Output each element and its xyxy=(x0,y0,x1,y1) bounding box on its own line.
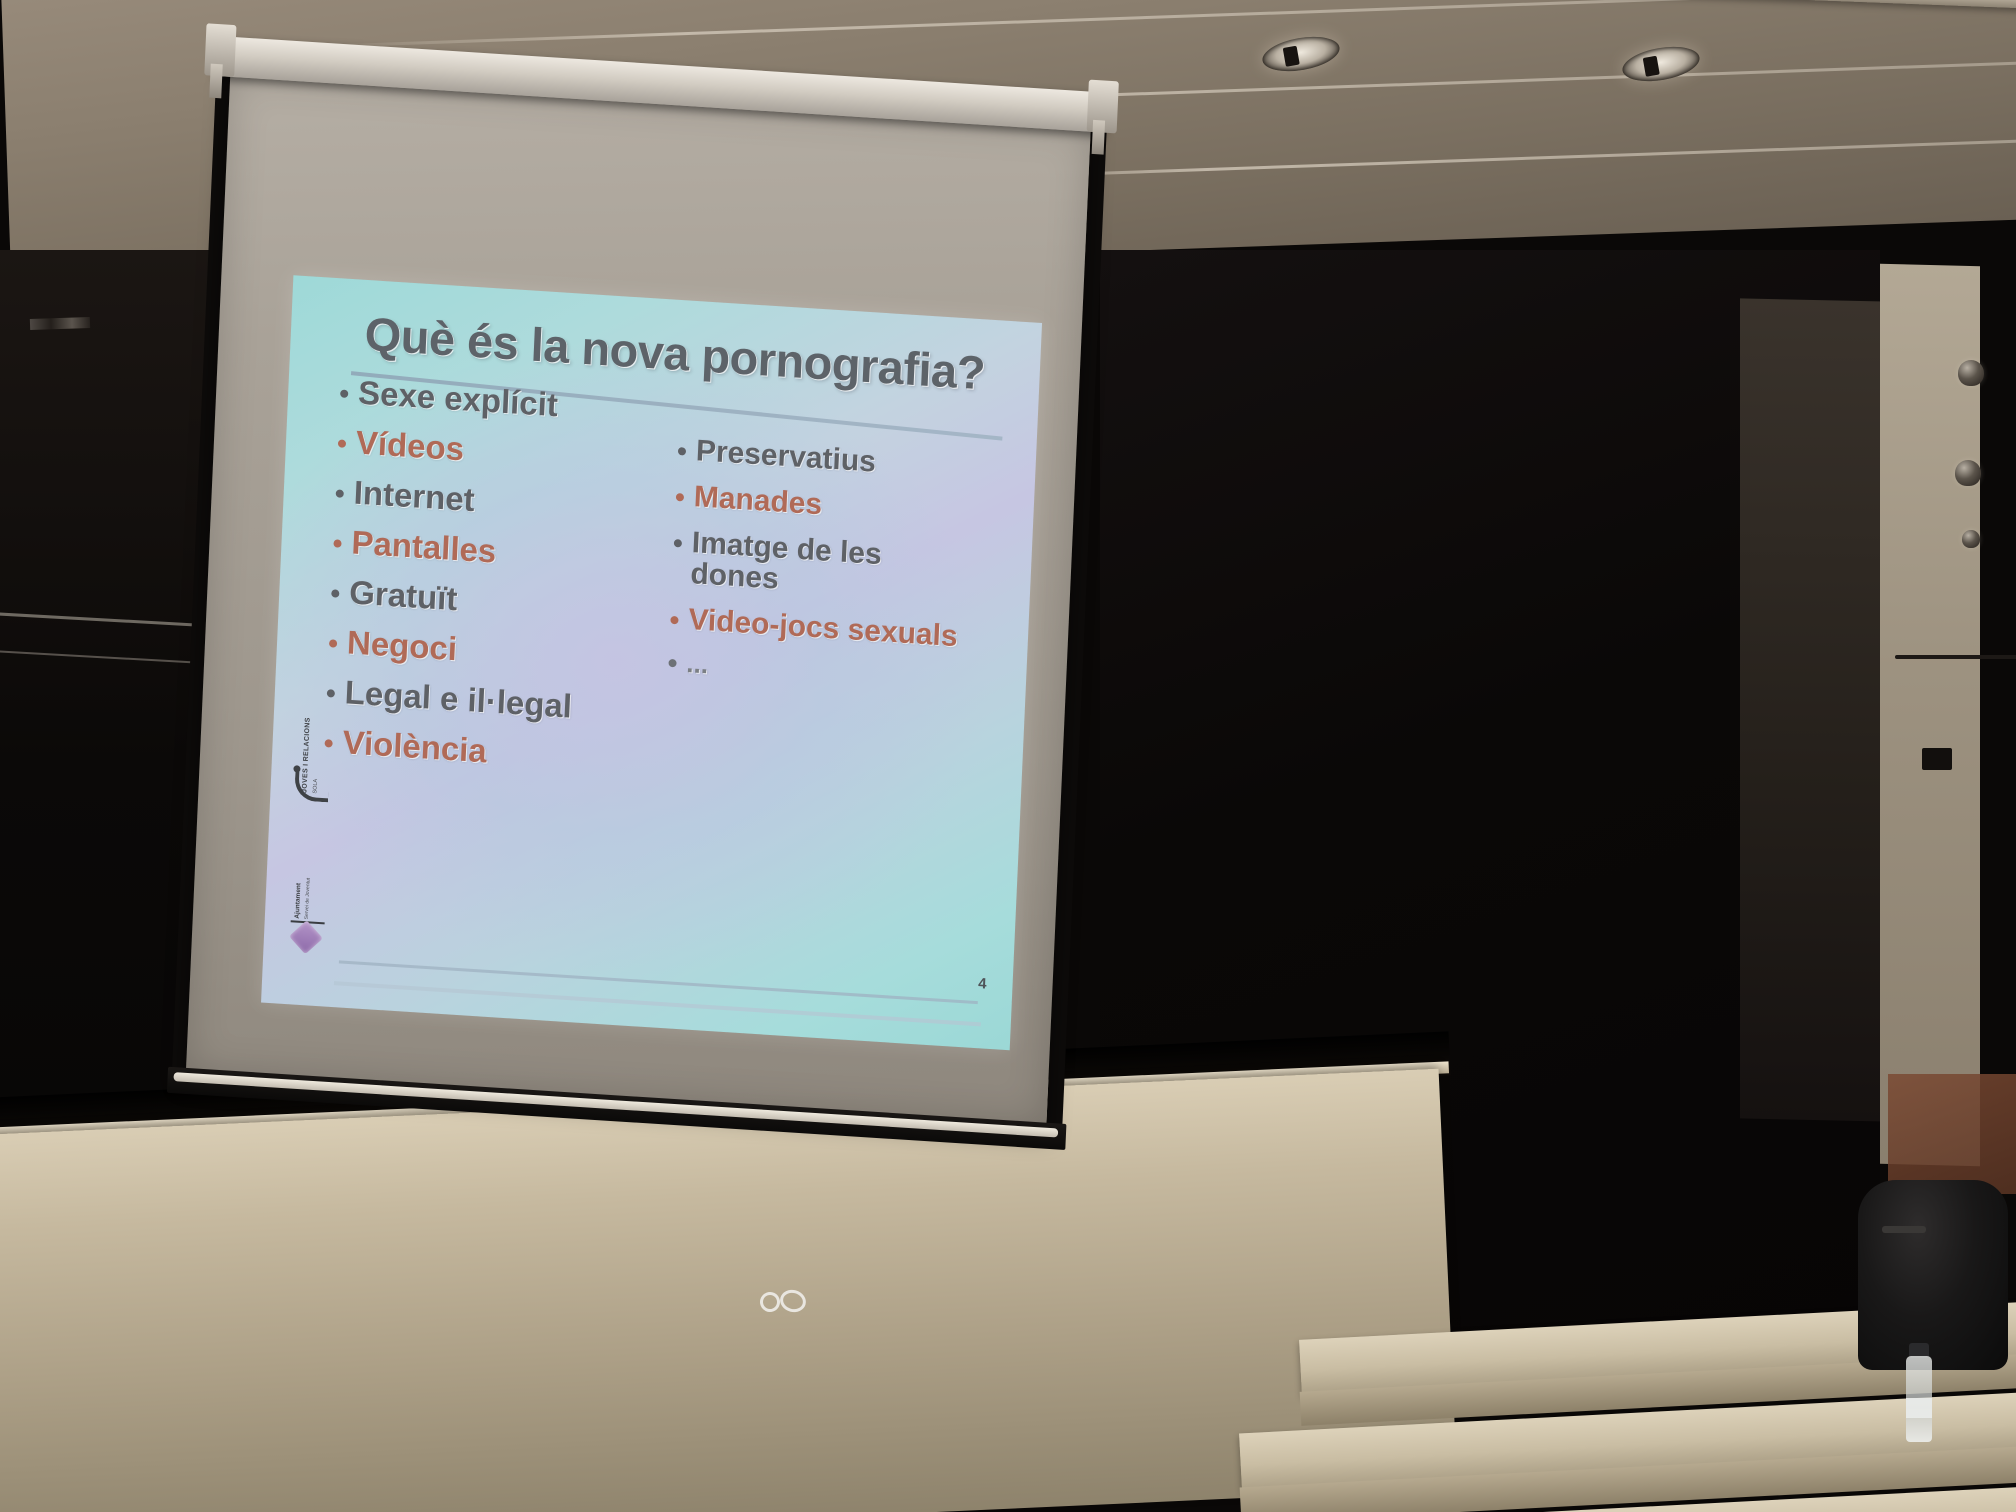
bullet-dot-icon xyxy=(327,689,335,698)
room-photo: Què és la nova pornografia? Sexe explíci… xyxy=(0,0,2016,1512)
wall-switch xyxy=(1922,748,1952,770)
list-item: Imatge de les dones xyxy=(672,526,974,609)
footer-rule-2 xyxy=(334,981,981,1026)
wall-plate xyxy=(1895,655,2016,659)
slide-page-number: 4 xyxy=(978,975,987,993)
cable xyxy=(760,1290,812,1316)
list-item: Negoci xyxy=(328,624,669,681)
jove-logo-line2: SOLA xyxy=(312,779,319,794)
wall-vent xyxy=(30,317,90,330)
list-item: Pantalles xyxy=(333,524,674,581)
bullet-dot-icon xyxy=(338,439,346,448)
list-item-label: Pantalles xyxy=(351,525,497,569)
list-item-label: Video-jocs sexuals xyxy=(688,604,958,653)
list-item: Preservatius xyxy=(677,434,978,485)
list-item-label: Violència xyxy=(342,725,488,769)
screen-bracket-left xyxy=(204,23,236,77)
list-item: Legal e il·legal xyxy=(326,674,667,731)
list-item: Violència xyxy=(324,724,665,781)
list-item: Internet xyxy=(335,474,676,531)
list-item-label: ... xyxy=(686,650,709,679)
bullet-dot-icon xyxy=(674,539,682,548)
screen-bracket-right xyxy=(1087,80,1119,134)
bullet-dot-icon xyxy=(340,389,348,398)
footer-rule xyxy=(339,960,978,1004)
wall-light-fixture-2 xyxy=(1955,460,1981,486)
bullet-column-right: Preservatius Manades Imatge de les dones xyxy=(667,434,978,709)
projected-slide: Què és la nova pornografia? Sexe explíci… xyxy=(261,275,1042,1050)
list-item-label: Legal e il·legal xyxy=(344,675,573,724)
bullet-dot-icon xyxy=(670,616,678,625)
bullet-dot-icon xyxy=(678,447,686,456)
wall-light-fixture xyxy=(1958,360,1984,386)
list-item: Video-jocs sexuals xyxy=(670,603,971,654)
list-item: Vídeos xyxy=(337,424,678,481)
bullet-dot-icon xyxy=(676,493,684,502)
list-item-label: Gratuït xyxy=(349,575,459,617)
backpack xyxy=(1858,1180,2008,1370)
list-item-label: Negoci xyxy=(346,625,457,667)
list-item-label: Manades xyxy=(693,481,823,521)
bullet-dot-icon xyxy=(331,589,339,598)
list-item-label: Imatge de les dones xyxy=(690,527,974,608)
wall-light-fixture-3 xyxy=(1962,530,1980,548)
list-item: Gratuït xyxy=(331,574,672,631)
list-item-label: Vídeos xyxy=(355,426,465,468)
bullet-column-left: Sexe explícit Vídeos Internet Panta xyxy=(323,374,680,795)
bullet-dot-icon xyxy=(329,639,337,648)
bullet-dot-icon xyxy=(333,539,341,548)
bullet-dot-icon xyxy=(668,659,676,668)
list-item: Sexe explícit xyxy=(340,374,681,431)
screen-fabric: Què és la nova pornografia? Sexe explíci… xyxy=(186,73,1091,1127)
generalitat-logo-line2: Servei de Joventut xyxy=(304,878,312,920)
bottle-label xyxy=(1906,1398,1932,1418)
jove-logo: JOVES I RELACIONS SOLA xyxy=(291,730,339,825)
bullet-dot-icon xyxy=(336,489,344,498)
generalitat-logo: Ajuntament Servei de Joventut xyxy=(281,842,338,955)
right-wall-recess xyxy=(1740,298,1890,1121)
list-item-label: Internet xyxy=(353,475,475,518)
list-item-label: Sexe explícit xyxy=(357,376,558,424)
generalitat-logo-line1: Ajuntament xyxy=(294,883,303,919)
list-item-label: Preservatius xyxy=(695,435,876,478)
diamond-icon xyxy=(289,920,323,954)
projection-screen: Què és la nova pornografia? Sexe explíci… xyxy=(171,36,1107,1152)
list-item: ... xyxy=(668,649,969,696)
list-item: Manades xyxy=(675,480,976,531)
